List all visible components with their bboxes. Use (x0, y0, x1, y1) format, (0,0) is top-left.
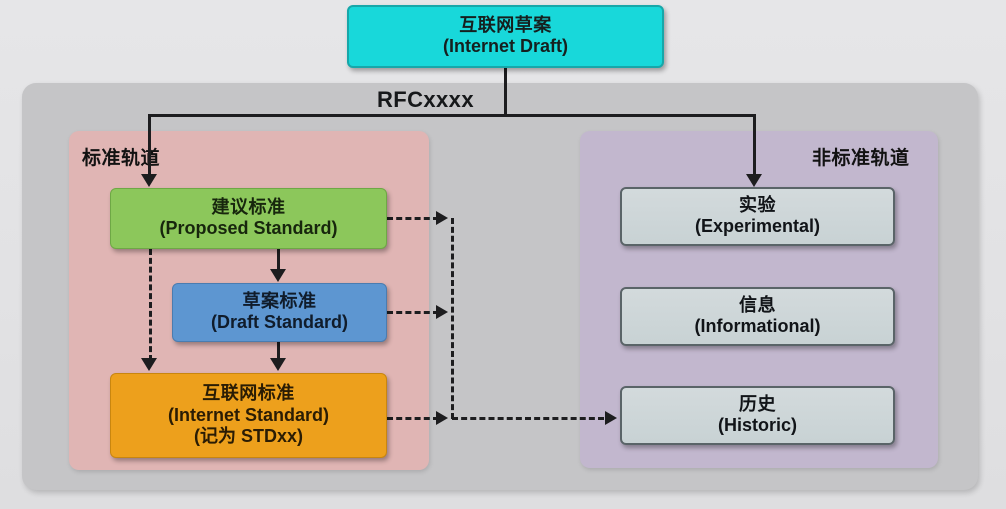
arrowhead-draft-to-internet-standard (270, 358, 286, 371)
node-internet-standard[interactable]: 互联网标准 (Internet Standard) (记为 STDxx) (110, 373, 387, 458)
node-internet-standard-note: (记为 STDxx) (194, 426, 303, 448)
dashed-arrowhead-internet-standard-to-spine (436, 411, 448, 425)
node-proposed-standard[interactable]: 建议标准 (Proposed Standard) (110, 188, 387, 249)
connector-fork-horizontal (148, 114, 756, 117)
arrowhead-to-experimental (746, 174, 762, 187)
node-internet-draft[interactable]: 互联网草案 (Internet Draft) (347, 5, 664, 68)
node-draft-standard-en: (Draft Standard) (211, 312, 348, 334)
dashed-connector-draft-to-historic (387, 311, 439, 314)
node-informational[interactable]: 信息 (Informational) (620, 287, 895, 346)
rfc-number-label: RFCxxxx (377, 87, 474, 113)
dashed-arrowhead-proposed-to-spine (436, 211, 448, 225)
non-standards-track-label: 非标准轨道 (812, 143, 910, 170)
node-draft-standard-cn: 草案标准 (243, 291, 317, 312)
dashed-arrowhead-to-historic (605, 411, 617, 425)
node-informational-en: (Informational) (695, 316, 821, 338)
connector-draft-trunk (504, 68, 507, 116)
dashed-connector-spine-to-historic (452, 417, 604, 420)
node-informational-cn: 信息 (739, 295, 776, 316)
node-historic[interactable]: 历史 (Historic) (620, 386, 895, 445)
dashed-connector-proposed-to-internet-standard (149, 249, 152, 361)
node-internet-standard-cn: 互联网标准 (202, 383, 295, 404)
node-internet-standard-en: (Internet Standard) (168, 405, 329, 427)
arrowhead-proposed-to-draft (270, 269, 286, 282)
dashed-connector-proposed-to-historic (387, 217, 439, 220)
dashed-arrowhead-draft-to-spine (436, 305, 448, 319)
node-internet-draft-cn: 互联网草案 (459, 15, 552, 36)
node-internet-draft-en: (Internet Draft) (443, 36, 568, 58)
node-proposed-standard-en: (Proposed Standard) (159, 218, 337, 240)
dashed-connector-internet-standard-to-spine (387, 417, 439, 420)
node-proposed-standard-cn: 建议标准 (212, 197, 286, 218)
node-historic-cn: 历史 (739, 394, 776, 415)
node-experimental-en: (Experimental) (695, 216, 820, 238)
node-experimental-cn: 实验 (739, 195, 776, 216)
node-draft-standard[interactable]: 草案标准 (Draft Standard) (172, 283, 387, 342)
rfc-standards-track-diagram: 标准轨道 非标准轨道 RFCxxxx 互联网草案 (Internet Draft… (0, 0, 1006, 509)
node-historic-en: (Historic) (718, 415, 797, 437)
connector-fork-left (148, 114, 151, 176)
dashed-arrowhead-proposed-to-internet-standard (141, 358, 157, 371)
node-experimental[interactable]: 实验 (Experimental) (620, 187, 895, 246)
connector-fork-right (753, 114, 756, 176)
connector-proposed-to-draft (277, 249, 280, 271)
arrowhead-to-proposed-standard (141, 174, 157, 187)
dashed-collector-spine (451, 218, 454, 419)
